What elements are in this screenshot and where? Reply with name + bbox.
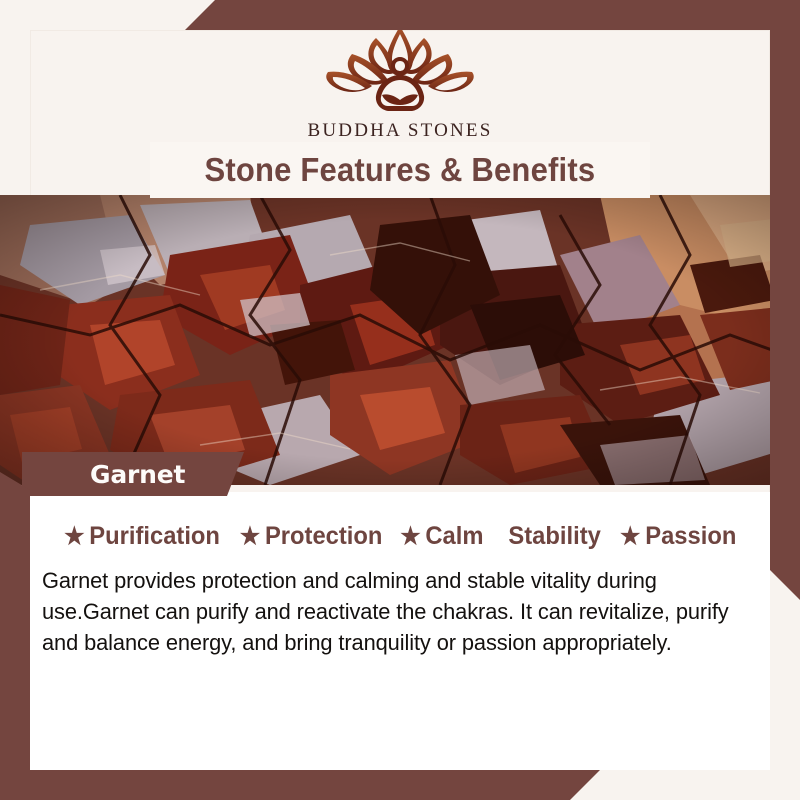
star-icon: ★	[620, 525, 640, 549]
title-banner: Stone Features & Benefits	[150, 142, 650, 198]
stone-name-band: Garnet	[22, 452, 244, 496]
feature-label: Purification	[90, 522, 221, 551]
feature-item: ★ Stability	[509, 522, 601, 551]
feature-label: Passion	[646, 522, 737, 551]
feature-item: ★ Calm	[401, 522, 484, 551]
poster: BUDDHA STONES Stone Features & Benefits	[0, 0, 800, 800]
feature-item: ★ Passion	[620, 522, 736, 551]
feature-label: Calm	[426, 522, 484, 551]
brand-logo: BUDDHA STONES	[0, 24, 800, 142]
feature-list: ★ Purification ★ Protection ★ Calm ★ Sta…	[30, 492, 770, 551]
star-icon: ★	[64, 525, 84, 549]
frame-right-accent	[770, 0, 800, 600]
feature-label: Stability	[509, 522, 601, 551]
brand-wordmark: BUDDHA STONES	[0, 120, 800, 142]
frame-bottom-accent	[0, 770, 800, 800]
star-icon: ★	[401, 525, 421, 549]
star-icon: ★	[240, 525, 260, 549]
feature-item: ★ Purification	[64, 522, 220, 551]
garnet-crystal-cluster-photo	[0, 195, 800, 485]
stone-description: Garnet provides protection and calming a…	[42, 565, 737, 658]
content-card: ★ Purification ★ Protection ★ Calm ★ Sta…	[30, 492, 770, 770]
feature-item: ★ Protection	[240, 522, 383, 551]
page-title: Stone Features & Benefits	[205, 151, 596, 189]
frame-left-accent	[0, 472, 30, 800]
lotus-meditating-figure-icon	[316, 24, 484, 118]
stone-name: Garnet	[22, 460, 185, 489]
feature-label: Protection	[265, 522, 382, 551]
